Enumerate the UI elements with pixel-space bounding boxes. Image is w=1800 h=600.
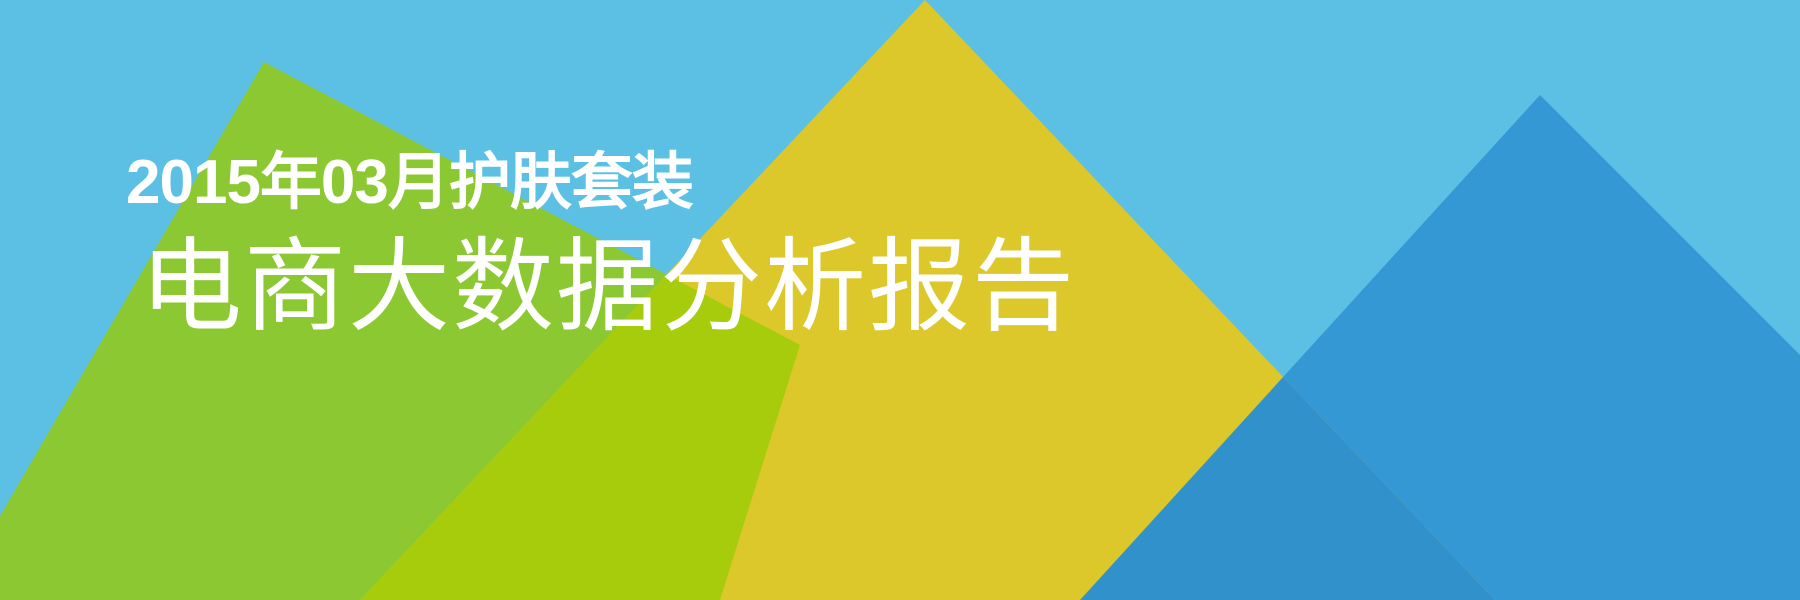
background-shapes — [0, 0, 1800, 600]
banner-graphic: 2015年03月护肤套装 电商大数据分析报告 — [0, 0, 1800, 600]
